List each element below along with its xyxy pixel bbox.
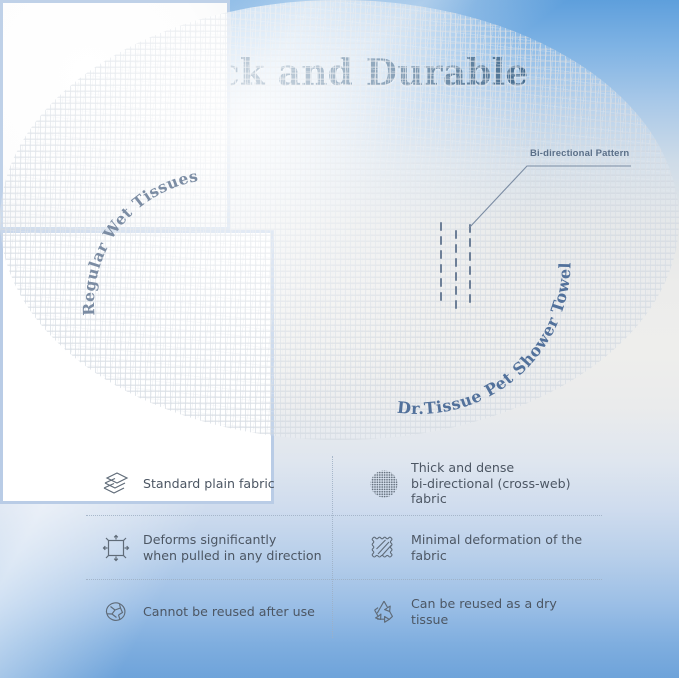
feature-cell-left-2: Deforms significantly when pulled in any… [84, 516, 344, 579]
feature-text: Can be reused as a dry tissue [411, 596, 598, 627]
row-divider [86, 515, 602, 516]
feature-row: Standard plain fabric Thick and [84, 452, 604, 515]
row-divider [86, 579, 602, 580]
feature-text: Minimal deformation of the fabric [411, 532, 598, 563]
comparison-circles: Regular Wet Tissues Dr.Tissue Pet Shower… [0, 0, 679, 440]
stacked-layers-icon [100, 468, 132, 500]
infographic-page: Thick and Durable Regular Wet Tissues [0, 0, 679, 678]
feature-text: Deforms significantly when pulled in any… [143, 532, 322, 563]
feature-comparison-grid: Standard plain fabric Thick and [84, 452, 604, 642]
feature-cell-right-2: Minimal deformation of the fabric [344, 516, 604, 579]
feature-cell-left-3: Cannot be reused after use [84, 580, 344, 643]
feature-text: Thick and dense bi-directional (cross-we… [411, 460, 598, 507]
crumpled-paper-ball-icon [100, 596, 132, 628]
recycle-arrows-icon [368, 596, 400, 628]
dr-tissue-pet-shower-towel-label-text: Dr.Tissue Pet Shower Towel [396, 262, 574, 418]
bi-directional-callout-label: Bi-directional Pattern [530, 148, 629, 159]
feature-row: Deforms significantly when pulled in any… [84, 516, 604, 579]
hatched-wavy-square-icon [368, 532, 400, 564]
feature-text: Standard plain fabric [143, 476, 275, 492]
column-divider [332, 456, 333, 638]
feature-cell-right-3: Can be reused as a dry tissue [344, 580, 604, 643]
square-four-arrows-icon [100, 532, 132, 564]
feature-row: Cannot be reused after use [84, 580, 604, 643]
feature-cell-right-1: Thick and dense bi-directional (cross-we… [344, 452, 604, 515]
dr-tissue-pet-shower-towel-label: Dr.Tissue Pet Shower Towel [0, 0, 679, 440]
dense-mesh-icon [368, 468, 400, 500]
feature-text: Cannot be reused after use [143, 604, 315, 620]
feature-cell-left-1: Standard plain fabric [84, 452, 344, 515]
